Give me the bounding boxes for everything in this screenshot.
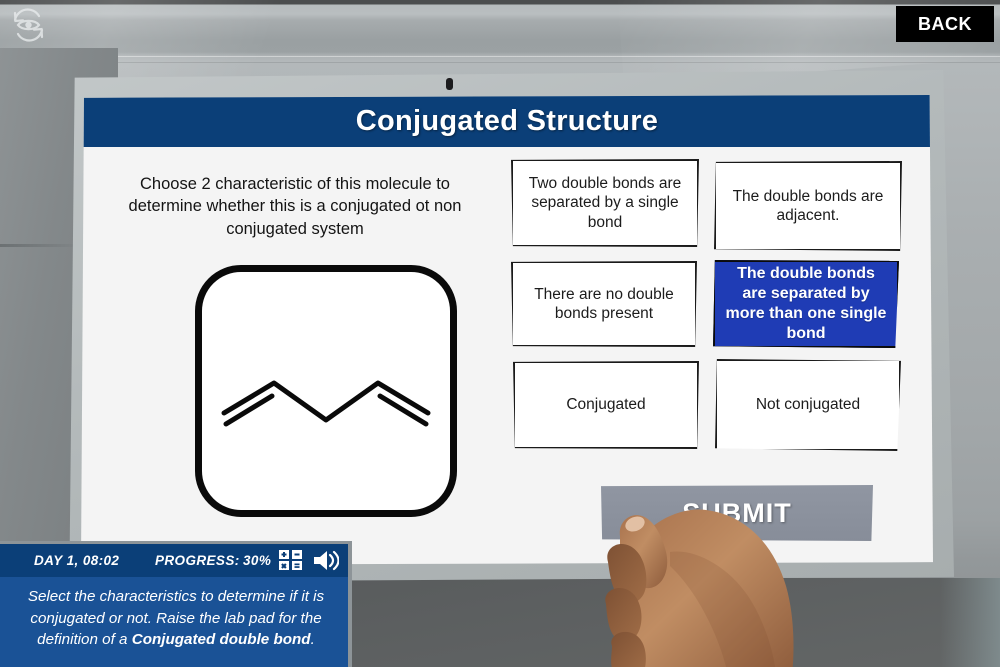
submit-button[interactable]: SUBMIT (601, 485, 873, 541)
question-column: Choose 2 characteristic of this molecule… (95, 147, 495, 565)
molecule-diagram-card (195, 265, 457, 517)
answer-options-grid: Two double bonds are separated by a sing… (511, 159, 919, 469)
question-prompt: Choose 2 characteristic of this molecule… (115, 173, 475, 240)
wall-seam (0, 56, 1000, 57)
tablet-camera-icon (446, 78, 453, 90)
answer-option-label: Conjugated (566, 395, 645, 414)
submit-button-label: SUBMIT (682, 498, 792, 529)
sound-icon[interactable] (313, 550, 339, 571)
hud-panel: DAY 1, 08:02 PROGRESS: 30% (0, 541, 352, 667)
answer-option-label: The double bonds are adjacent. (726, 187, 890, 226)
answer-option-2[interactable]: There are no double bonds present (511, 261, 697, 347)
skeletal-diene-molecule-icon (202, 272, 450, 510)
back-button-label: BACK (918, 14, 972, 35)
hud-day-time: DAY 1, 08:02 (34, 553, 119, 568)
hud-status-bar: DAY 1, 08:02 PROGRESS: 30% (0, 544, 352, 577)
screen-body: Choose 2 characteristic of this molecule… (81, 147, 933, 565)
calculator-icon[interactable] (279, 550, 303, 571)
wall-seam (0, 62, 1000, 63)
answer-option-3[interactable]: The double bonds are separated by more t… (713, 260, 899, 348)
answer-option-label: Not conjugated (756, 395, 860, 414)
eye-refresh-icon[interactable] (6, 4, 52, 46)
scene-background: BACK Conjugated Structure Choose 2 chara… (0, 0, 1000, 667)
answer-option-1[interactable]: The double bonds are adjacent. (714, 161, 902, 251)
desk-edge-highlight (940, 578, 1000, 667)
lab-tablet: Conjugated Structure Choose 2 characteri… (64, 70, 954, 582)
hud-instruction-part2: . (311, 631, 315, 648)
answer-option-0[interactable]: Two double bonds are separated by a sing… (511, 159, 699, 247)
answer-option-label: The double bonds are separated by more t… (725, 264, 887, 344)
hud-progress-value: 30% (243, 553, 271, 568)
answer-option-4[interactable]: Conjugated (513, 361, 699, 449)
title-bar: Conjugated Structure (81, 95, 933, 147)
hud-progress-label: PROGRESS: (155, 553, 240, 568)
back-button[interactable]: BACK (896, 6, 994, 42)
tablet-screen: Conjugated Structure Choose 2 characteri… (81, 95, 933, 565)
page-title: Conjugated Structure (356, 105, 658, 138)
answer-option-label: Two double bonds are separated by a sing… (523, 174, 687, 232)
hud-instruction-term: Conjugated double bond (132, 631, 311, 648)
hud-instruction-text: Select the characteristics to determine … (0, 577, 352, 651)
answer-option-label: There are no double bonds present (523, 285, 685, 324)
answer-option-5[interactable]: Not conjugated (715, 359, 901, 451)
